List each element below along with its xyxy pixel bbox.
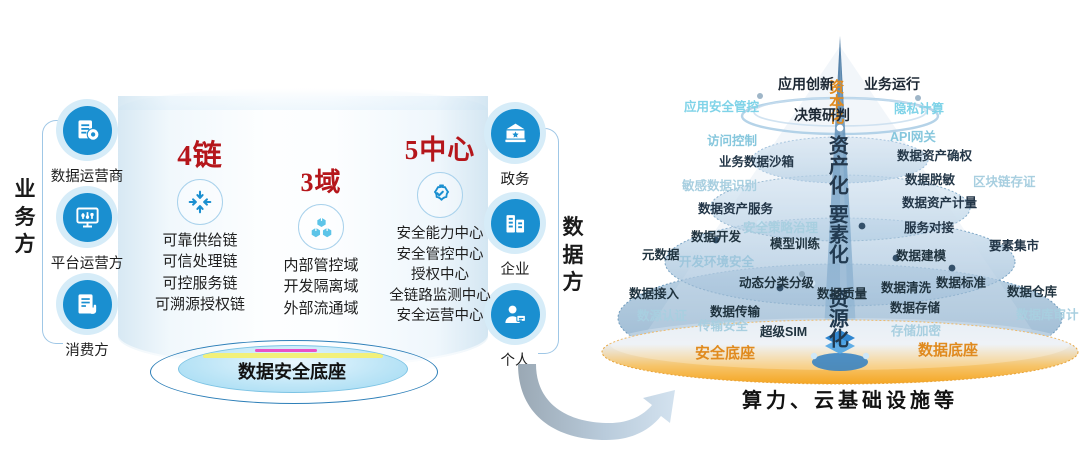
data-security-base-label: 数据安全底座 (178, 358, 406, 384)
label-source-authentication: 数源认证 (637, 310, 687, 323)
column-item: 安全运营中心 (372, 306, 508, 327)
column-items: 安全能力中心 安全管控中心 授权中心 全链路监测中心 安全运营中心 (372, 224, 508, 327)
column-item: 可溯源授权链 (140, 295, 260, 316)
label-model-training: 模型训练 (770, 238, 820, 251)
label-database-audit: 数据库审计 (1016, 309, 1079, 322)
role-data-operator[interactable]: 数据运营商 (50, 99, 124, 186)
converge-arrows-icon (177, 179, 223, 225)
monitor-dashboard-icon (63, 193, 112, 242)
label-application-innovation: 应用创新 (778, 77, 834, 91)
label-api-gateway: API网关 (890, 131, 936, 144)
label-data-warehouse: 数据仓库 (1007, 286, 1057, 299)
business-side-label: 业务方 (8, 176, 42, 259)
label-dynamic-classification: 动态分类分级 (739, 277, 814, 290)
label-business-operation: 业务运行 (864, 77, 920, 91)
label-super-sim: 超级SIM (760, 326, 807, 339)
column-3-domains: 3域 内部管控域 开发隔离域 外部流通域 (262, 162, 380, 320)
label-storage-encryption: 存储加密 (891, 325, 941, 338)
label-data-cleaning: 数据清洗 (881, 282, 931, 295)
label-data-transmission: 数据传输 (710, 306, 760, 319)
label-data-asset-measurement: 数据资产计量 (902, 197, 977, 210)
spine-level-element: 要素化 (826, 204, 846, 264)
label-access-control: 访问控制 (707, 135, 757, 148)
column-item: 可信处理链 (140, 252, 260, 273)
label-service-docking: 服务对接 (904, 222, 954, 235)
column-item: 可控服务链 (140, 274, 260, 295)
label-data-modeling: 数据建模 (896, 250, 946, 263)
label-business-data-sandbox: 业务数据沙箱 (719, 156, 794, 169)
data-side-label: 数据方 (556, 214, 590, 297)
label-data-masking: 数据脱敏 (905, 174, 955, 187)
label-metadata: 元数据 (642, 249, 680, 262)
label-app-security-control: 应用安全管控 (684, 101, 759, 114)
label-decision-judgement: 决策研判 (794, 108, 850, 122)
base-stripe-magenta (255, 349, 317, 352)
diagram-canvas: 业务方 数据方 数据运营商 (0, 0, 1080, 451)
column-item: 可靠供给链 (140, 231, 260, 252)
role-label: 平台运营方 (50, 252, 124, 273)
label-security-foundation: 安全底座 (695, 346, 755, 361)
column-item: 授权中心 (372, 265, 508, 286)
column-item: 外部流通域 (262, 299, 380, 320)
role-halo (56, 99, 118, 161)
label-data-asset-service: 数据资产服务 (698, 203, 773, 216)
document-hand-icon (63, 280, 112, 329)
role-halo (56, 186, 118, 248)
role-label: 消费方 (50, 339, 124, 360)
column-item: 内部管控域 (262, 256, 380, 277)
role-platform-operator[interactable]: 平台运营方 (50, 186, 124, 273)
label-security-policy-governance: 安全策略治理 (743, 222, 818, 235)
label-blockchain-evidence: 区块链存证 (973, 176, 1036, 189)
label-data-standard: 数据标准 (936, 277, 986, 290)
column-item: 安全管控中心 (372, 245, 508, 266)
label-data-quality: 数据质量 (817, 288, 867, 301)
label-element-marketplace: 要素集市 (989, 240, 1039, 253)
cubes-icon (298, 204, 344, 250)
column-title: 3域 (262, 162, 380, 199)
column-item: 全链路监测中心 (372, 286, 508, 307)
column-title: 4链 (140, 132, 260, 174)
label-dev-environment-security: 开发环境安全 (679, 256, 754, 269)
column-item: 开发隔离域 (262, 277, 380, 298)
spine-level-asset: 资产化 (826, 135, 846, 195)
column-title: 5中心 (372, 128, 508, 167)
column-items: 内部管控域 开发隔离域 外部流通域 (262, 256, 380, 320)
column-4-chains: 4链 可靠供给链 可信处理链 可控服务链 可溯源授权链 (140, 132, 260, 316)
label-data-foundation: 数据底座 (918, 343, 978, 358)
column-items: 可靠供给链 可信处理链 可控服务链 可溯源授权链 (140, 231, 260, 316)
label-data-ingestion: 数据接入 (629, 288, 679, 301)
column-item: 安全能力中心 (372, 224, 508, 245)
left-framework-panel: 业务方 数据方 数据运营商 (0, 0, 600, 451)
label-sensitive-data-identification: 敏感数据识别 (682, 180, 757, 193)
label-transmission-security: 传输安全 (698, 320, 748, 333)
label-data-asset-ownership: 数据资产确权 (897, 150, 972, 163)
label-privacy-computing: 隐私计算 (894, 103, 944, 116)
role-consumer[interactable]: 消费方 (50, 273, 124, 360)
column-5-centers: 5中心 安全能力中心 安全管控中心 授权中心 全链路监测中心 安全运营中心 (372, 128, 508, 327)
label-data-development: 数据开发 (691, 231, 741, 244)
infrastructure-caption: 算力、云基础设施等 (690, 384, 1010, 413)
role-halo (56, 273, 118, 335)
role-label: 数据运营商 (50, 165, 124, 186)
star-shield-icon (417, 172, 463, 218)
document-gear-icon (63, 106, 112, 155)
label-data-storage: 数据存储 (890, 302, 940, 315)
